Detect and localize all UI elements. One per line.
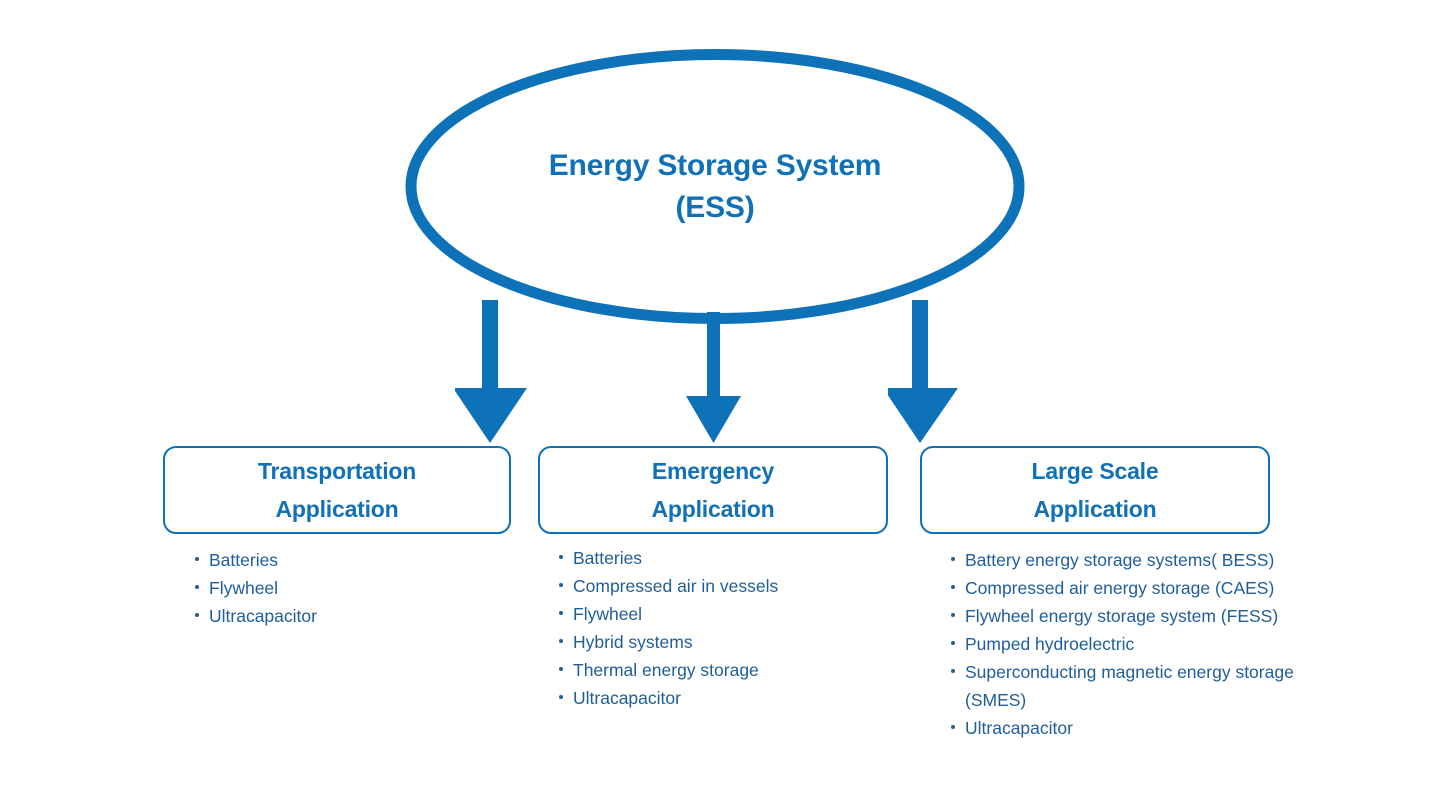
list-item: Batteries [192, 546, 492, 574]
list-item: Thermal energy storage [556, 656, 876, 684]
branch-box-emergency[interactable]: Emergency Application [538, 446, 888, 534]
arrow-to-transportation [455, 300, 535, 448]
branch-title-line1: Transportation [258, 452, 416, 490]
branch-title-line1: Large Scale [1032, 452, 1159, 490]
diagram-canvas: Energy Storage System (ESS) Transportati… [0, 0, 1430, 804]
branch-title-line2: Application [651, 490, 774, 528]
list-item: Compressed air energy storage (CAES) [948, 574, 1308, 602]
branch-title-line2: Application [1033, 490, 1156, 528]
list-item: Pumped hydroelectric [948, 630, 1308, 658]
root-title-line1: Energy Storage System [549, 145, 882, 187]
root-node-label: Energy Storage System (ESS) [405, 48, 1025, 325]
list-item: Ultracapacitor [948, 714, 1308, 742]
list-item: Flywheel [192, 574, 492, 602]
root-node-energy-storage-system[interactable]: Energy Storage System (ESS) [405, 48, 1025, 325]
list-item: Ultracapacitor [192, 602, 492, 630]
list-item: Superconducting magnetic energy storage … [948, 658, 1308, 714]
arrow-to-emergency [680, 312, 750, 448]
list-item: Flywheel [556, 600, 876, 628]
bullet-list-transportation: Batteries Flywheel Ultracapacitor [192, 546, 492, 630]
branch-box-transportation[interactable]: Transportation Application [163, 446, 511, 534]
bullet-list-large-scale: Battery energy storage systems( BESS) Co… [948, 546, 1308, 742]
list-item: Battery energy storage systems( BESS) [948, 546, 1308, 574]
down-arrow-icon [888, 300, 968, 448]
down-arrow-icon [455, 300, 535, 448]
bullet-list-emergency: Batteries Compressed air in vessels Flyw… [556, 544, 876, 712]
list-item: Compressed air in vessels [556, 572, 876, 600]
branch-title-line2: Application [275, 490, 398, 528]
list-item: Hybrid systems [556, 628, 876, 656]
arrow-to-large-scale [888, 300, 968, 448]
root-title-line2: (ESS) [675, 187, 754, 229]
branch-box-large-scale[interactable]: Large Scale Application [920, 446, 1270, 534]
list-item: Batteries [556, 544, 876, 572]
list-item: Flywheel energy storage system (FESS) [948, 602, 1308, 630]
list-item: Ultracapacitor [556, 684, 876, 712]
down-arrow-icon [680, 312, 750, 448]
branch-title-line1: Emergency [652, 452, 774, 490]
